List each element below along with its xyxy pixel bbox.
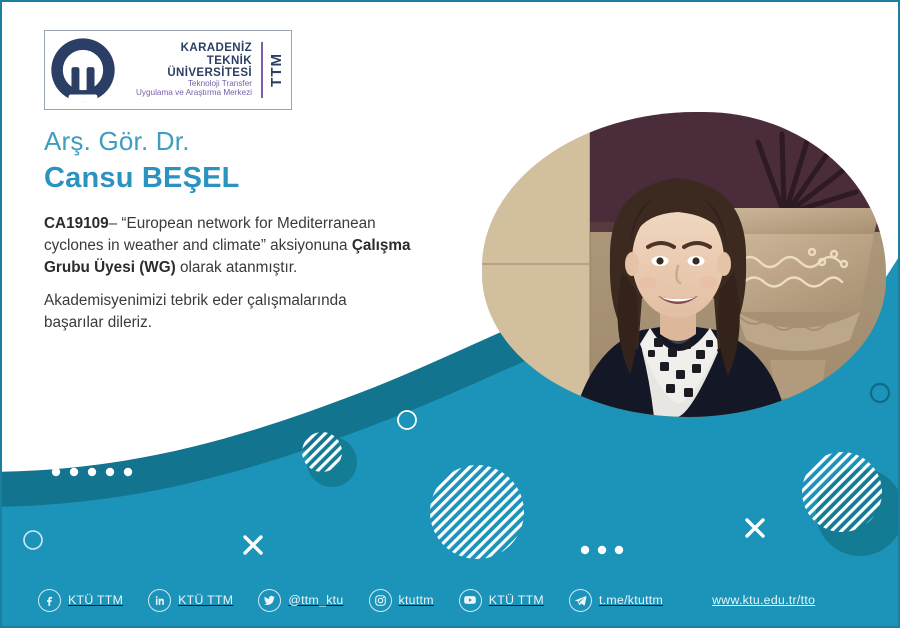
- social-label-youtube: KTÜ TTM: [489, 593, 544, 607]
- academic-title: Arş. Gör. Dr.: [44, 126, 190, 157]
- logo-divider: [261, 42, 263, 98]
- logo-line-karadeniz: KARADENİZ: [181, 42, 252, 54]
- social-link-instagram[interactable]: ktuttm: [369, 589, 434, 612]
- social-label-instagram: ktuttm: [399, 593, 434, 607]
- striped-circle-small: [302, 432, 342, 472]
- striped-circle-large: [430, 465, 524, 559]
- logo-line-universitesi: TEKNİK ÜNİVERSİTESİ: [119, 55, 252, 79]
- footer-social-bar: KTÜ TTM KTÜ TTM @ttm_ktu ktuttm: [2, 574, 900, 626]
- social-link-telegram[interactable]: t.me/ktuttm: [569, 589, 663, 612]
- twitter-icon: [258, 589, 281, 612]
- academic-name: Cansu BEŞEL: [44, 162, 240, 195]
- social-link-linkedin[interactable]: KTÜ TTM: [148, 589, 233, 612]
- ktu-ttm-logo: KARADENİZ TEKNİK ÜNİVERSİTESİ Teknoloji …: [44, 30, 292, 110]
- instagram-icon: [369, 589, 392, 612]
- social-label-telegram: t.me/ktuttm: [599, 593, 663, 607]
- announcement-text-part2: olarak atanmıştır.: [176, 259, 298, 276]
- announcement-paragraph-1: CA19109– “European network for Mediterra…: [44, 213, 432, 280]
- announcement-paragraph-2: Akademisyenimizi tebrik eder çalışmaları…: [44, 290, 374, 334]
- social-link-facebook[interactable]: KTÜ TTM: [38, 589, 123, 612]
- facebook-icon: [38, 589, 61, 612]
- portrait-photo-illustration: [482, 112, 886, 417]
- linkedin-icon: [148, 589, 171, 612]
- ktu-logo-icon: [47, 34, 119, 106]
- social-link-twitter[interactable]: @ttm_ktu: [258, 589, 343, 612]
- striped-circle-right: [802, 452, 882, 532]
- portrait-photo: [482, 112, 886, 417]
- logo-line-merkezi: Uygulama ve Araştırma Merkezi: [136, 88, 252, 97]
- social-label-facebook: KTÜ TTM: [68, 593, 123, 607]
- logo-line-teknoloji: Teknoloji Transfer: [188, 79, 252, 88]
- three-dots-decoration: [581, 546, 623, 554]
- social-label-linkedin: KTÜ TTM: [178, 593, 233, 607]
- website-link[interactable]: www.ktu.edu.tr/tto: [712, 593, 815, 607]
- announcement-poster: KTÜ TTM KTÜ TTM @ttm_ktu ktuttm: [0, 0, 900, 628]
- social-label-twitter: @ttm_ktu: [288, 593, 343, 607]
- social-link-youtube[interactable]: KTÜ TTM: [459, 589, 544, 612]
- action-code: CA19109: [44, 215, 109, 232]
- logo-badge-ttm: TTM: [268, 53, 285, 87]
- telegram-icon: [569, 589, 592, 612]
- youtube-icon: [459, 589, 482, 612]
- ktu-logo-text: KARADENİZ TEKNİK ÜNİVERSİTESİ Teknoloji …: [119, 42, 256, 97]
